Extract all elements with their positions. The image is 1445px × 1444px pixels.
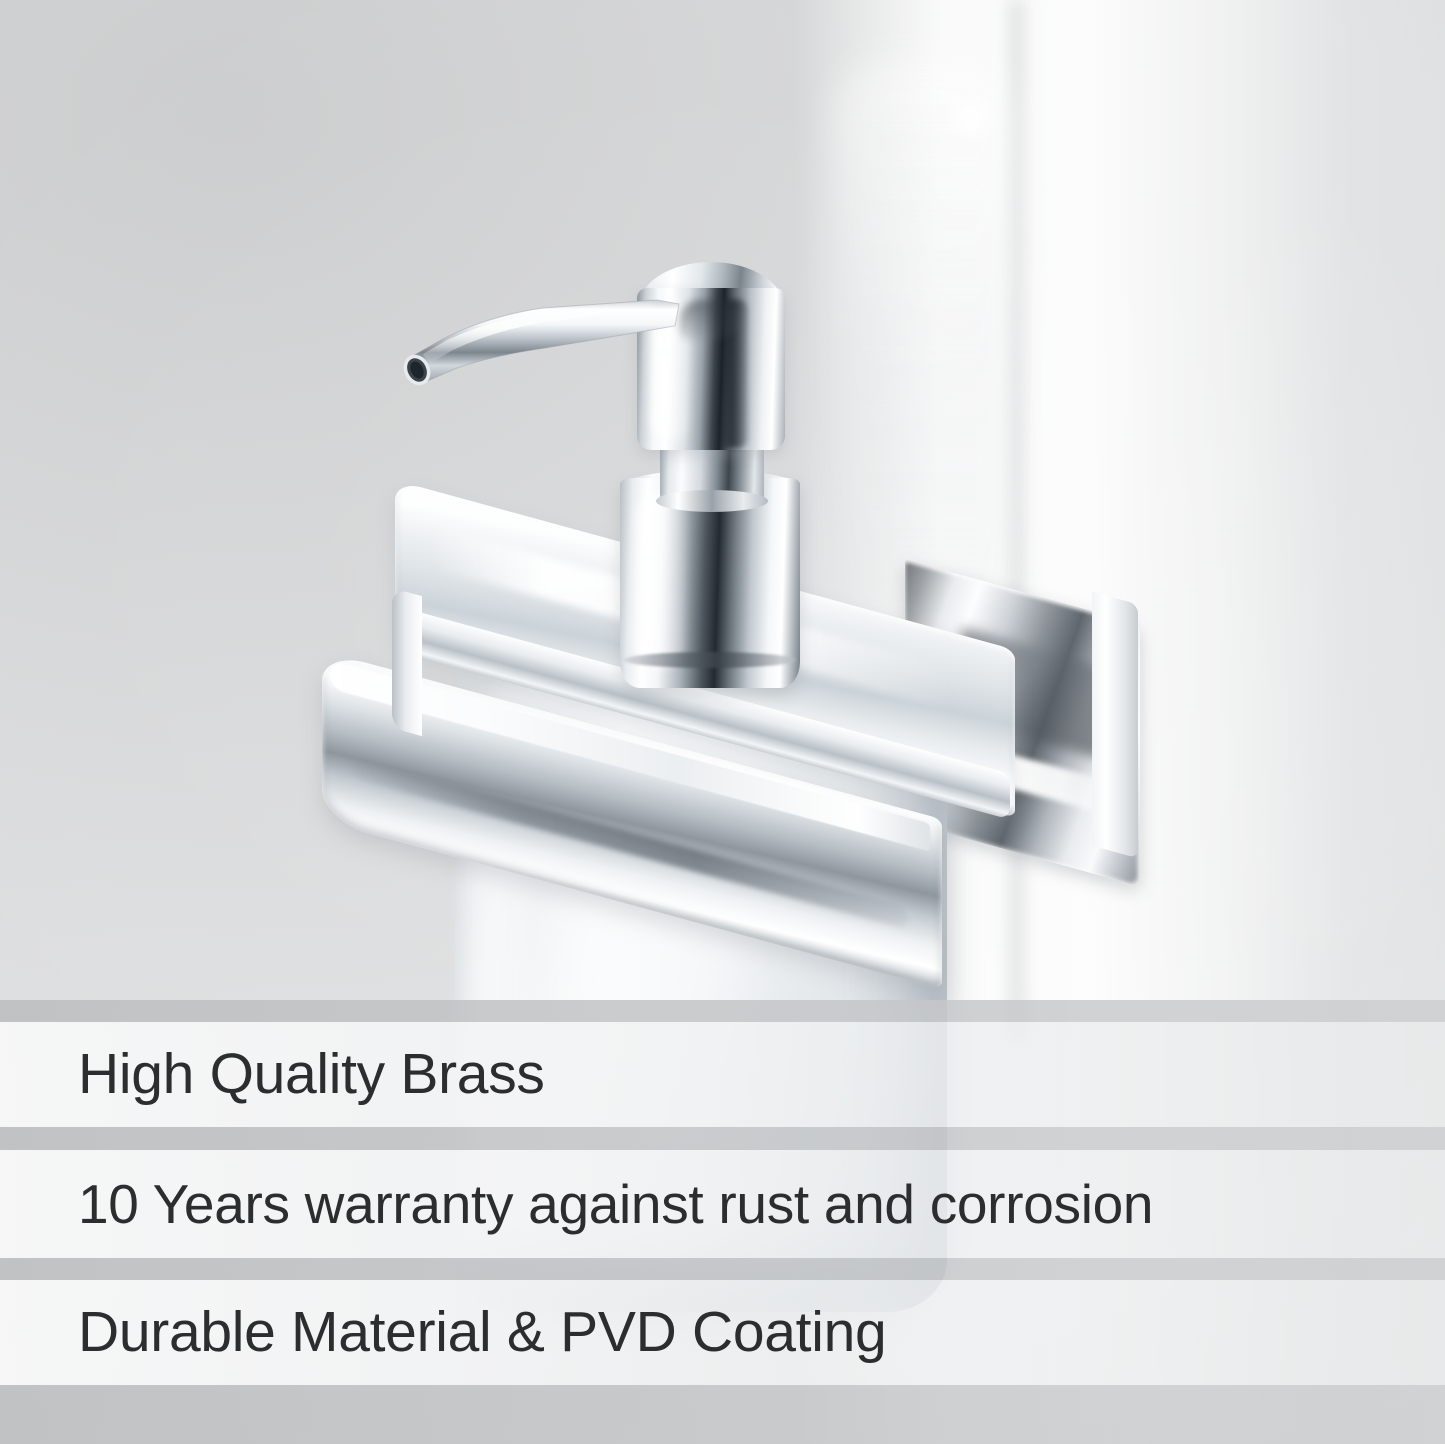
- feature-label-3: Durable Material & PVD Coating: [0, 1304, 886, 1361]
- pump-spout: [395, 282, 685, 392]
- feature-banner: High Quality Brass 10 Years warranty aga…: [0, 1000, 1445, 1444]
- feature-label-1: High Quality Brass: [0, 1046, 545, 1103]
- banner-separator-top: [0, 1000, 1445, 1022]
- feature-row-3: Durable Material & PVD Coating: [0, 1280, 1445, 1385]
- pump-collar-highlight: [638, 492, 684, 668]
- feature-row-2: 10 Years warranty against rust and corro…: [0, 1150, 1445, 1258]
- feature-label-2: 10 Years warranty against rust and corro…: [0, 1177, 1153, 1232]
- banner-separator-bottom: [0, 1385, 1445, 1444]
- product-feature-image: High Quality Brass 10 Years warranty aga…: [0, 0, 1445, 1444]
- pump-neck-ring: [656, 490, 768, 512]
- banner-separator-2: [0, 1258, 1445, 1280]
- wall-bracket-edge: [1092, 592, 1138, 859]
- feature-row-1: High Quality Brass: [0, 1022, 1445, 1127]
- pump-collar-seam: [624, 652, 796, 668]
- banner-separator-1: [0, 1127, 1445, 1150]
- top-plate-left-edge: [392, 588, 422, 736]
